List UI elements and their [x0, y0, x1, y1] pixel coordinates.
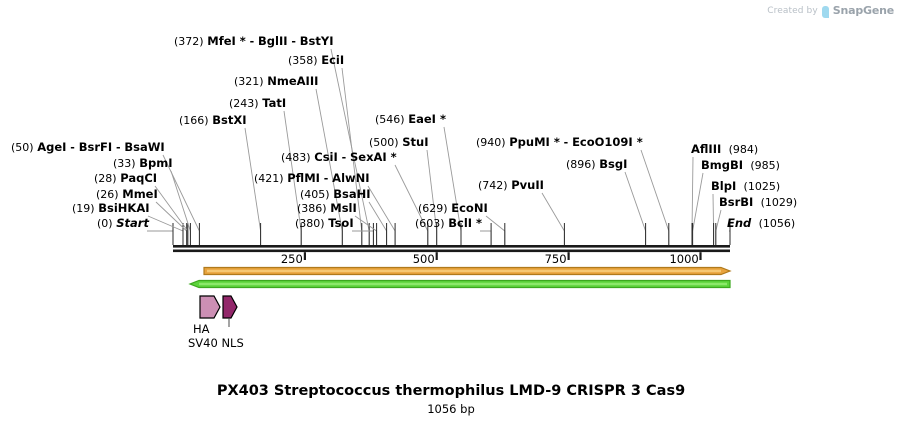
ruler-tick-label: 500 — [413, 252, 435, 266]
enzyme-name: StuI — [402, 135, 428, 149]
enzyme-name: EcoNI — [451, 201, 487, 215]
enzyme-site-names: MmeI — [122, 187, 158, 201]
enzyme-name: TsoI — [328, 216, 353, 230]
snapgene-logo-icon — [822, 6, 829, 18]
enzyme-site-names: BmgBI — [701, 158, 743, 172]
enzyme-name-separator: - — [560, 136, 572, 149]
enzyme-name: TatI — [262, 96, 286, 110]
enzyme-site-names: BpmI — [139, 156, 172, 170]
dna-backbone-top-strand — [173, 245, 730, 248]
enzyme-name: BsgI — [599, 157, 627, 171]
feature-arrow-sv40-nls[interactable] — [223, 296, 237, 318]
enzyme-leader-line — [245, 128, 261, 245]
enzyme-name: SexAI * — [350, 150, 397, 164]
enzyme-site-label[interactable]: (50) AgeI - BsrFI - BsaWI — [11, 141, 165, 154]
enzyme-site-position: (0) — [97, 217, 113, 230]
feature-arrow-ha[interactable] — [200, 296, 220, 318]
enzyme-name: BmgBI — [701, 158, 743, 172]
enzyme-site-names: TsoI — [328, 216, 353, 230]
enzyme-name: Start — [116, 216, 149, 230]
enzyme-site-names: StuI — [402, 135, 428, 149]
enzyme-leader-line — [369, 202, 387, 245]
enzyme-site-position: (940) — [476, 136, 506, 149]
enzyme-site-names: EciI — [321, 53, 344, 67]
enzyme-name: AflIII — [691, 142, 721, 156]
enzyme-site-position: (985) — [750, 159, 780, 172]
enzyme-site-label[interactable]: BlpI (1025) — [711, 180, 780, 193]
enzyme-site-label[interactable]: (243) TatI — [229, 97, 286, 110]
enzyme-site-position: (546) — [375, 113, 405, 126]
enzyme-site-label[interactable]: End (1056) — [727, 217, 795, 230]
enzyme-site-label[interactable]: (380) TsoI — [295, 217, 354, 230]
enzyme-name: EaeI * — [408, 112, 446, 126]
enzyme-site-position: (603) — [415, 217, 445, 230]
enzyme-site-names: BclI * — [448, 216, 482, 230]
enzyme-site-label[interactable]: (321) NmeAIII — [234, 75, 318, 88]
watermark-prefix: Created by — [767, 6, 818, 16]
enzyme-site-label[interactable]: (546) EaeI * — [375, 113, 446, 126]
enzyme-name: BlpI — [711, 179, 736, 193]
enzyme-leader-line — [352, 231, 373, 245]
enzyme-name: PpuMI * — [509, 135, 560, 149]
watermark-brand: SnapGene — [833, 4, 894, 17]
enzyme-leader-line — [148, 216, 183, 245]
enzyme-site-position: (166) — [179, 114, 209, 127]
enzyme-site-label[interactable]: (483) CsiI - SexAI * — [281, 151, 397, 164]
enzyme-name-separator: - — [338, 151, 350, 164]
enzyme-site-names: AgeI - BsrFI - BsaWI — [37, 140, 164, 154]
enzyme-site-position: (380) — [295, 217, 325, 230]
enzyme-leader-line — [693, 173, 703, 245]
enzyme-site-label[interactable]: (405) BsaHI — [300, 188, 371, 201]
enzyme-site-label[interactable]: (33) BpmI — [113, 157, 173, 170]
enzyme-site-names: NmeAIII — [267, 74, 318, 88]
enzyme-name: BpmI — [139, 156, 172, 170]
enzyme-name: EcoO109I * — [572, 135, 643, 149]
enzyme-name: BglII — [258, 34, 288, 48]
enzyme-site-position: (629) — [418, 202, 448, 215]
enzyme-site-position: (984) — [729, 143, 759, 156]
enzyme-site-position: (33) — [113, 157, 136, 170]
enzyme-site-label[interactable]: (358) EciI — [288, 54, 344, 67]
enzyme-site-names: BlpI — [711, 179, 736, 193]
enzyme-site-position: (50) — [11, 141, 34, 154]
enzyme-site-names: AflIII — [691, 142, 721, 156]
enzyme-name: PaqCI — [120, 171, 157, 185]
enzyme-name: CsiI — [314, 150, 338, 164]
enzyme-name-separator: - — [66, 141, 78, 154]
enzyme-name: EciI — [321, 53, 344, 67]
enzyme-site-names: BsrBI — [719, 195, 753, 209]
feature-caption[interactable]: HA — [193, 322, 210, 336]
enzyme-name: BsaHI — [333, 187, 370, 201]
enzyme-site-position: (1025) — [744, 180, 781, 193]
enzyme-leader-line — [147, 231, 173, 245]
enzyme-site-position: (28) — [94, 172, 117, 185]
enzyme-site-position: (1056) — [759, 217, 796, 230]
enzyme-site-label[interactable]: (166) BstXI — [179, 114, 247, 127]
enzyme-site-names: PaqCI — [120, 171, 157, 185]
enzyme-name: MfeI * — [207, 34, 246, 48]
enzyme-name-separator: - — [320, 172, 332, 185]
enzyme-name: AlwNI — [332, 171, 369, 185]
enzyme-leader-line — [427, 150, 437, 245]
enzyme-name-separator: - — [246, 35, 258, 48]
enzyme-site-label[interactable]: (421) PflMI - AlwNI — [254, 172, 370, 185]
enzyme-site-label[interactable]: (742) PvuII — [478, 179, 544, 192]
enzyme-site-names: BsaHI — [333, 187, 370, 201]
enzyme-name: BsrFI — [79, 140, 112, 154]
enzyme-site-names: MfeI * - BglII - BstYI — [207, 34, 333, 48]
enzyme-site-names: PflMI - AlwNI — [287, 171, 369, 185]
sequence-length-label: 1056 bp — [0, 402, 902, 416]
enzyme-site-label[interactable]: (0) Start — [97, 217, 149, 230]
enzyme-leader-line — [480, 231, 491, 245]
enzyme-name: AgeI — [37, 140, 66, 154]
enzyme-site-position: (500) — [369, 136, 399, 149]
enzyme-site-label[interactable]: (603) BclI * — [415, 217, 482, 230]
enzyme-name: End — [727, 216, 751, 230]
enzyme-site-label[interactable]: (386) MslI — [297, 202, 357, 215]
enzyme-site-label[interactable]: (629) EcoNI — [418, 202, 488, 215]
enzyme-name: BstYI — [300, 34, 334, 48]
enzyme-site-label[interactable]: (26) MmeI — [96, 188, 158, 201]
enzyme-site-names: PpuMI * - EcoO109I * — [509, 135, 642, 149]
enzyme-site-position: (405) — [300, 188, 330, 201]
enzyme-site-names: CsiI - SexAI * — [314, 150, 396, 164]
feature-caption[interactable]: SV40 NLS — [188, 336, 244, 350]
enzyme-leader-line — [542, 193, 564, 245]
ruler-tick-label: 750 — [545, 252, 567, 266]
enzyme-site-names: BsiHKAI — [98, 201, 149, 215]
enzyme-site-names: End — [727, 216, 751, 230]
enzyme-name: MslI — [330, 201, 357, 215]
ruler-tick-label: 250 — [281, 252, 303, 266]
enzyme-site-position: (19) — [72, 202, 95, 215]
enzyme-site-names: MslI — [330, 201, 357, 215]
enzyme-site-label[interactable]: (372) MfeI * - BglII - BstYI — [174, 35, 333, 48]
enzyme-site-position: (421) — [254, 172, 284, 185]
enzyme-site-label[interactable]: BsrBI (1029) — [719, 196, 797, 209]
map-title-block: PX403 Streptococcus thermophilus LMD-9 C… — [0, 383, 902, 416]
enzyme-site-names: EaeI * — [408, 112, 446, 126]
enzyme-name-separator: - — [288, 35, 300, 48]
enzyme-name-separator: - — [112, 141, 124, 154]
enzyme-site-names: Start — [116, 216, 149, 230]
enzyme-leader-line — [716, 210, 721, 245]
enzyme-name: BsrBI — [719, 195, 753, 209]
enzyme-site-names: BstXI — [212, 113, 246, 127]
enzyme-site-label[interactable]: (28) PaqCI — [94, 172, 157, 185]
enzyme-name: BsaWI — [124, 140, 164, 154]
dna-backbone-bottom-strand — [173, 250, 730, 253]
enzyme-site-label[interactable]: (19) BsiHKAI — [72, 202, 150, 215]
enzyme-leader-line — [368, 186, 395, 245]
enzyme-site-label[interactable]: AflIII (984) — [691, 143, 758, 156]
enzyme-site-names: BsgI — [599, 157, 627, 171]
enzyme-site-names: TatI — [262, 96, 286, 110]
enzyme-name: BstXI — [212, 113, 246, 127]
snapgene-watermark: Created by SnapGene — [767, 4, 894, 17]
enzyme-site-position: (742) — [478, 179, 508, 192]
page-title: PX403 Streptococcus thermophilus LMD-9 C… — [0, 383, 902, 399]
enzyme-site-position: (372) — [174, 35, 204, 48]
enzyme-name: NmeAIII — [267, 74, 318, 88]
enzyme-site-label[interactable]: (500) StuI — [369, 136, 429, 149]
enzyme-name: PflMI — [287, 171, 320, 185]
enzyme-site-position: (1029) — [761, 196, 798, 209]
ruler-tick-label: 1000 — [669, 252, 698, 266]
enzyme-site-label[interactable]: (940) PpuMI * - EcoO109I * — [476, 136, 643, 149]
enzyme-site-label[interactable]: (896) BsgI — [566, 158, 627, 171]
enzyme-site-label[interactable]: BmgBI (985) — [701, 159, 780, 172]
enzyme-name: MmeI — [122, 187, 158, 201]
enzyme-site-position: (386) — [297, 202, 327, 215]
enzyme-leader-line — [486, 216, 505, 245]
enzyme-site-position: (896) — [566, 158, 596, 171]
enzyme-site-names: PvuII — [511, 178, 544, 192]
enzyme-name: BclI * — [448, 216, 482, 230]
enzyme-site-names: EcoNI — [451, 201, 487, 215]
enzyme-name: PvuII — [511, 178, 544, 192]
enzyme-site-position: (358) — [288, 54, 318, 67]
enzyme-site-position: (26) — [96, 188, 119, 201]
enzyme-leader-line — [625, 172, 646, 245]
enzyme-site-position: (483) — [281, 151, 311, 164]
enzyme-site-position: (243) — [229, 97, 259, 110]
enzyme-name: BsiHKAI — [98, 201, 149, 215]
enzyme-site-position: (321) — [234, 75, 264, 88]
